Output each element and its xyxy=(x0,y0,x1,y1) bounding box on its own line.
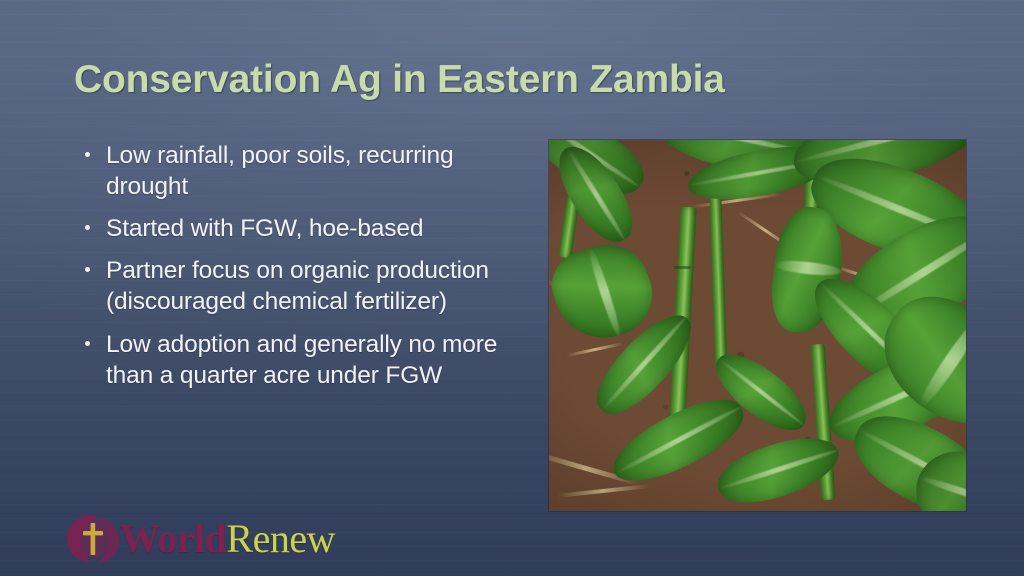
bullet-text: Started with FGW, hoe-based xyxy=(106,215,423,242)
presentation-slide: Conservation Ag in Eastern Zambia Low ra… xyxy=(0,0,1024,576)
logo-word-world: World xyxy=(120,516,226,561)
bullet-list: Low rainfall, poor soils, recurring drou… xyxy=(80,140,532,402)
bullet-text: Partner focus on organic production (dis… xyxy=(106,257,489,315)
bullet-marker-icon xyxy=(85,267,90,272)
bullet-item: Started with FGW, hoe-based xyxy=(80,213,532,244)
bullet-item: Partner focus on organic production (dis… xyxy=(80,255,532,317)
bullet-item: Low adoption and generally no more than … xyxy=(80,329,532,391)
organization-logo: WorldRenew xyxy=(62,508,335,570)
slide-title: Conservation Ag in Eastern Zambia xyxy=(74,58,854,102)
photo-soil-background xyxy=(549,140,966,511)
bullet-text: Low rainfall, poor soils, recurring drou… xyxy=(106,142,453,200)
logo-word-renew: Renew xyxy=(226,516,335,561)
bullet-text: Low adoption and generally no more than … xyxy=(106,331,497,389)
photo-stalk-node xyxy=(674,266,691,269)
bullet-item: Low rainfall, poor soils, recurring drou… xyxy=(80,140,532,202)
bullet-marker-icon xyxy=(85,225,90,230)
logo-wordmark: WorldRenew xyxy=(120,519,335,559)
bullet-marker-icon xyxy=(85,341,90,346)
world-renew-swirl-icon xyxy=(62,510,124,568)
slide-photo xyxy=(549,140,966,511)
bullet-marker-icon xyxy=(85,152,90,157)
